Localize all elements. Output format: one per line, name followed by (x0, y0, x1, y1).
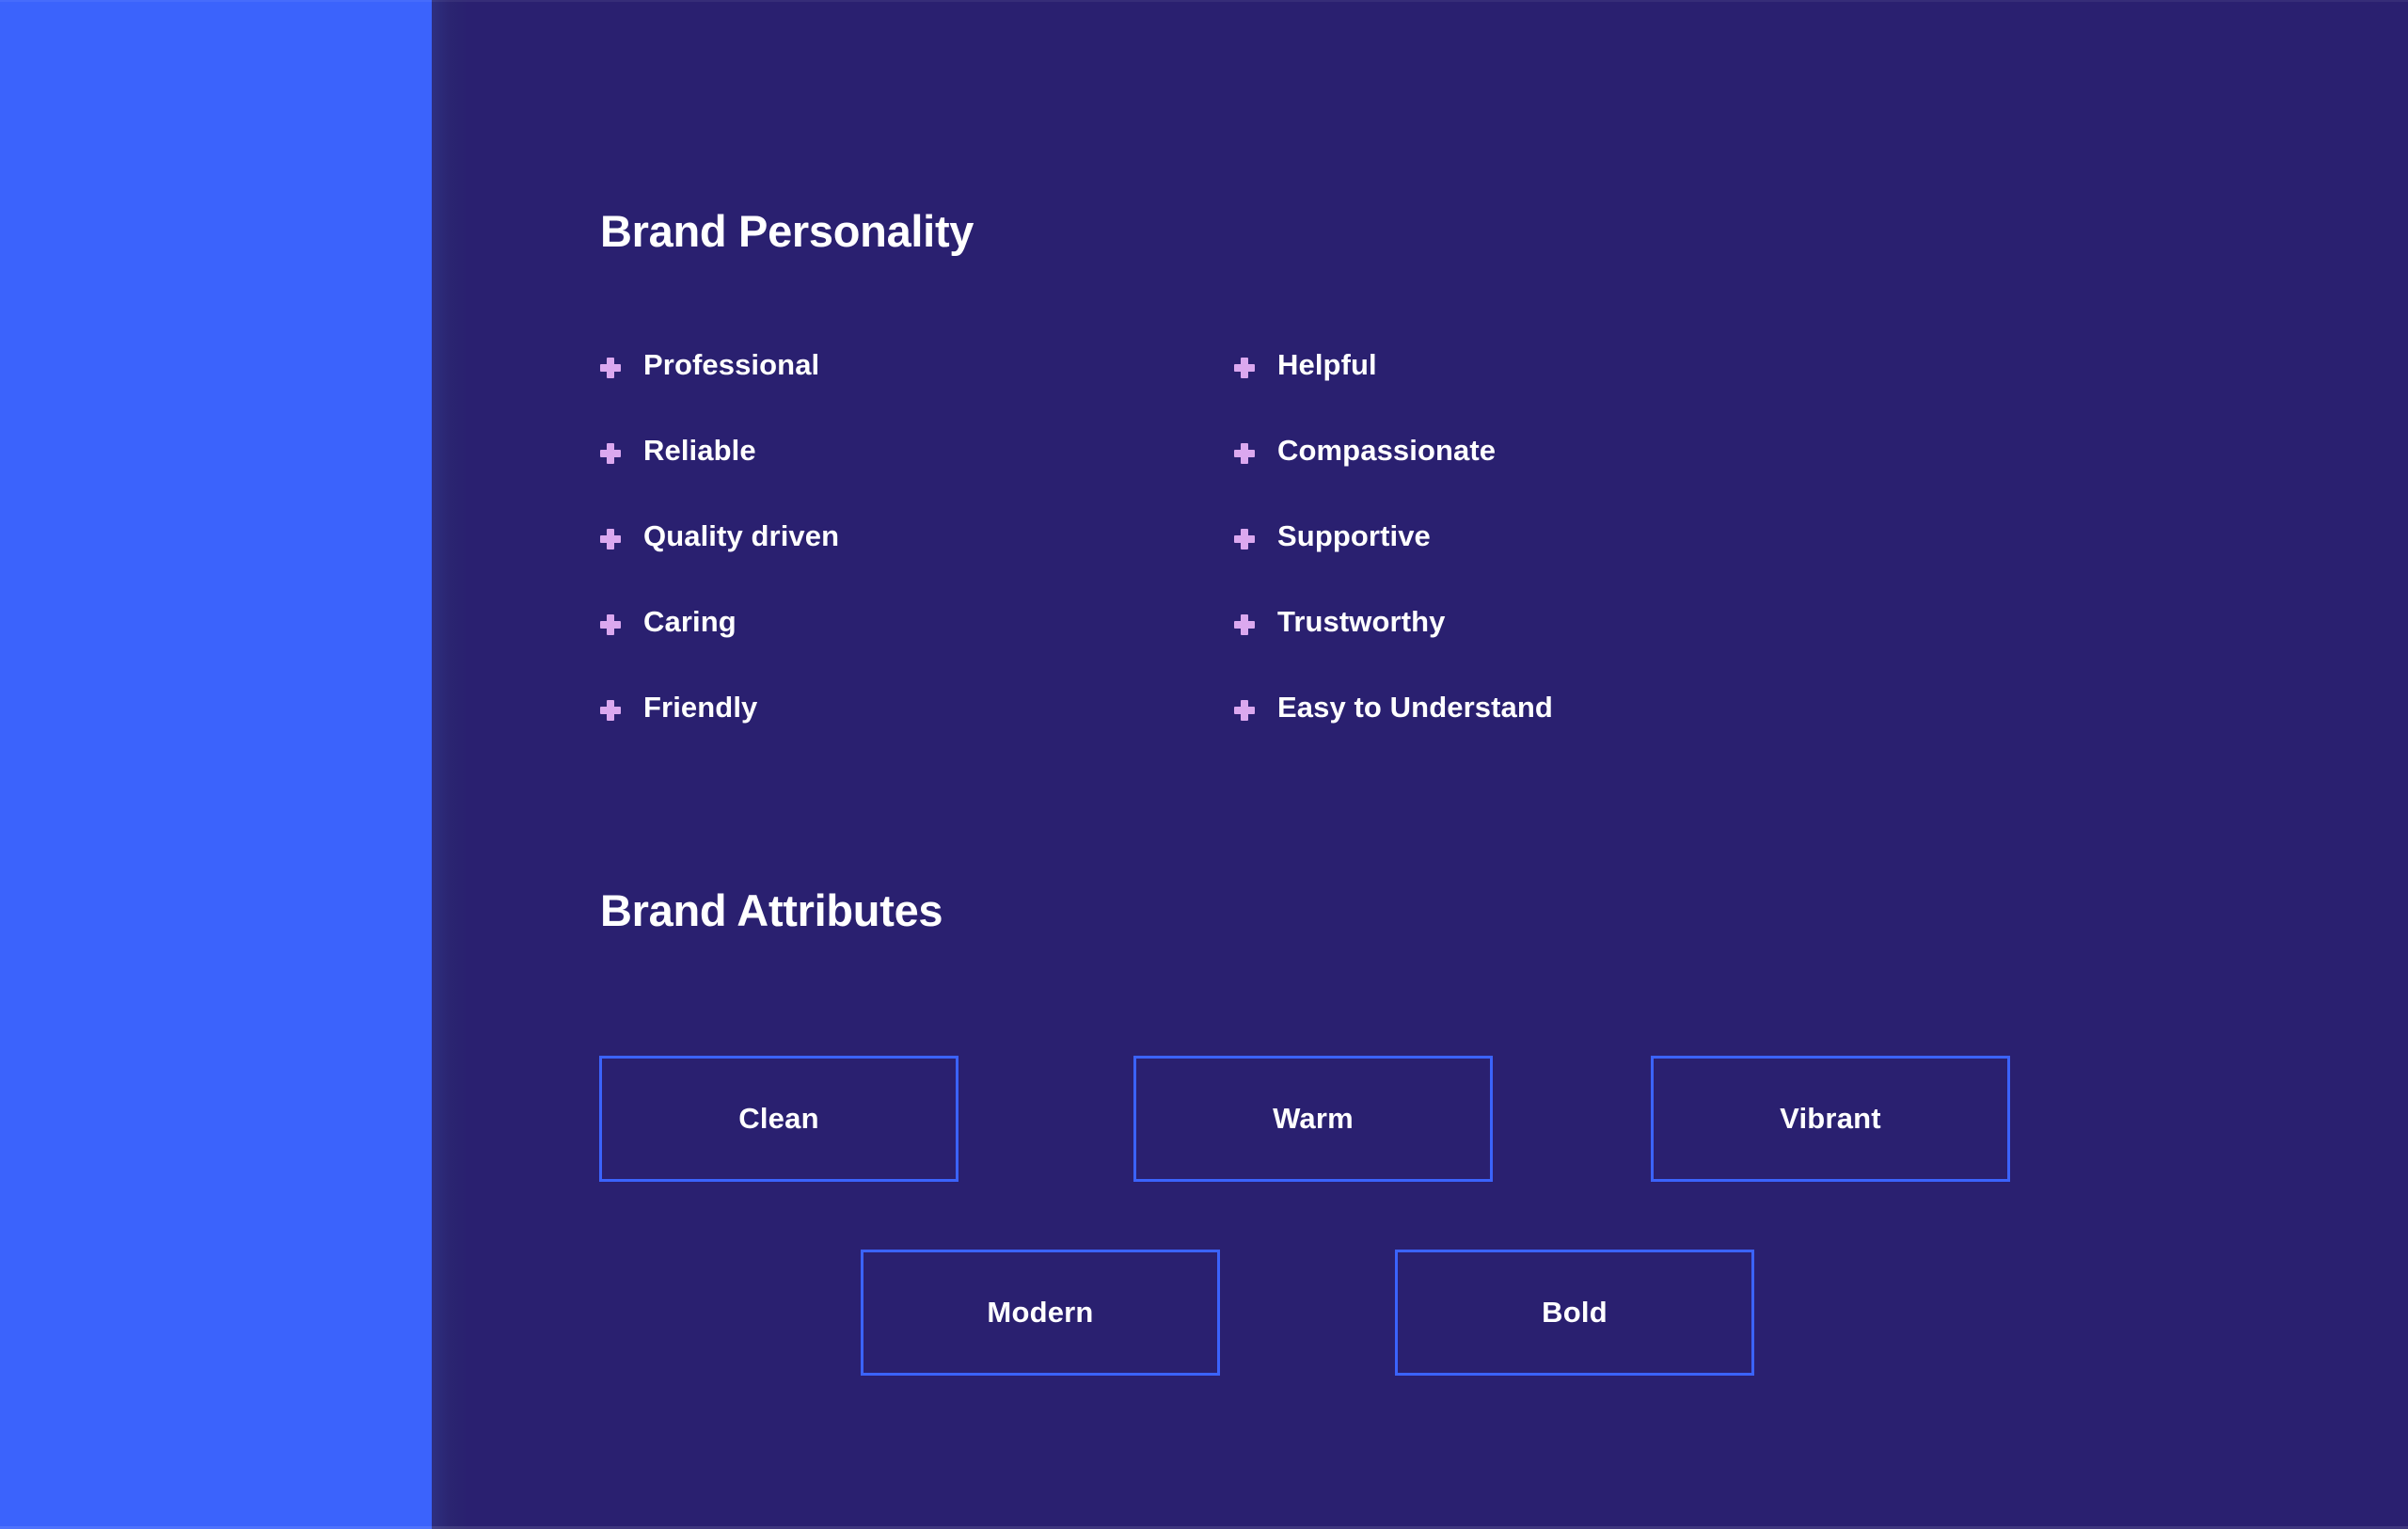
list-item-label: Friendly (643, 691, 757, 725)
attribute-box-clean[interactable]: Clean (599, 1056, 958, 1182)
attribute-label: Warm (1273, 1102, 1354, 1136)
attribute-box-warm[interactable]: Warm (1133, 1056, 1493, 1182)
attribute-label: Vibrant (1780, 1102, 1881, 1136)
list-item-label: Supportive (1277, 519, 1431, 553)
plus-icon (600, 358, 621, 378)
attribute-box-bold[interactable]: Bold (1395, 1250, 1754, 1376)
list-item: Helpful (1234, 348, 1949, 434)
list-item: Professional (600, 348, 1202, 434)
slide-content: Brand Personality Professional Reliable … (0, 0, 2408, 1529)
plus-icon (600, 443, 621, 464)
list-item-label: Quality driven (643, 519, 839, 553)
list-item: Supportive (1234, 519, 1949, 605)
attribute-label: Clean (738, 1102, 818, 1136)
list-item: Trustworthy (1234, 605, 1949, 691)
list-item: Compassionate (1234, 434, 1949, 519)
plus-icon (1234, 443, 1255, 464)
personality-column-left: Professional Reliable Quality driven Car… (600, 348, 1202, 776)
list-item-label: Professional (643, 348, 819, 382)
attribute-box-modern[interactable]: Modern (861, 1250, 1220, 1376)
brand-guidelines-slide: Brand Personality Professional Reliable … (0, 0, 2408, 1529)
list-item-label: Caring (643, 605, 737, 639)
plus-icon (600, 529, 621, 549)
brand-personality-heading: Brand Personality (600, 209, 974, 253)
plus-icon (600, 614, 621, 635)
list-item: Reliable (600, 434, 1202, 519)
attribute-label: Modern (987, 1296, 1093, 1330)
plus-icon (1234, 614, 1255, 635)
plus-icon (600, 700, 621, 721)
list-item-label: Trustworthy (1277, 605, 1446, 639)
plus-icon (1234, 700, 1255, 721)
attribute-label: Bold (1542, 1296, 1608, 1330)
personality-column-right: Helpful Compassionate Supportive Trustwo… (1234, 348, 1949, 776)
list-item: Quality driven (600, 519, 1202, 605)
plus-icon (1234, 358, 1255, 378)
list-item-label: Helpful (1277, 348, 1377, 382)
attribute-box-vibrant[interactable]: Vibrant (1651, 1056, 2010, 1182)
list-item: Caring (600, 605, 1202, 691)
list-item: Easy to Understand (1234, 691, 1949, 776)
list-item-label: Reliable (643, 434, 756, 468)
list-item-label: Compassionate (1277, 434, 1496, 468)
list-item: Friendly (600, 691, 1202, 776)
plus-icon (1234, 529, 1255, 549)
list-item-label: Easy to Understand (1277, 691, 1553, 725)
brand-attributes-heading: Brand Attributes (600, 888, 943, 932)
